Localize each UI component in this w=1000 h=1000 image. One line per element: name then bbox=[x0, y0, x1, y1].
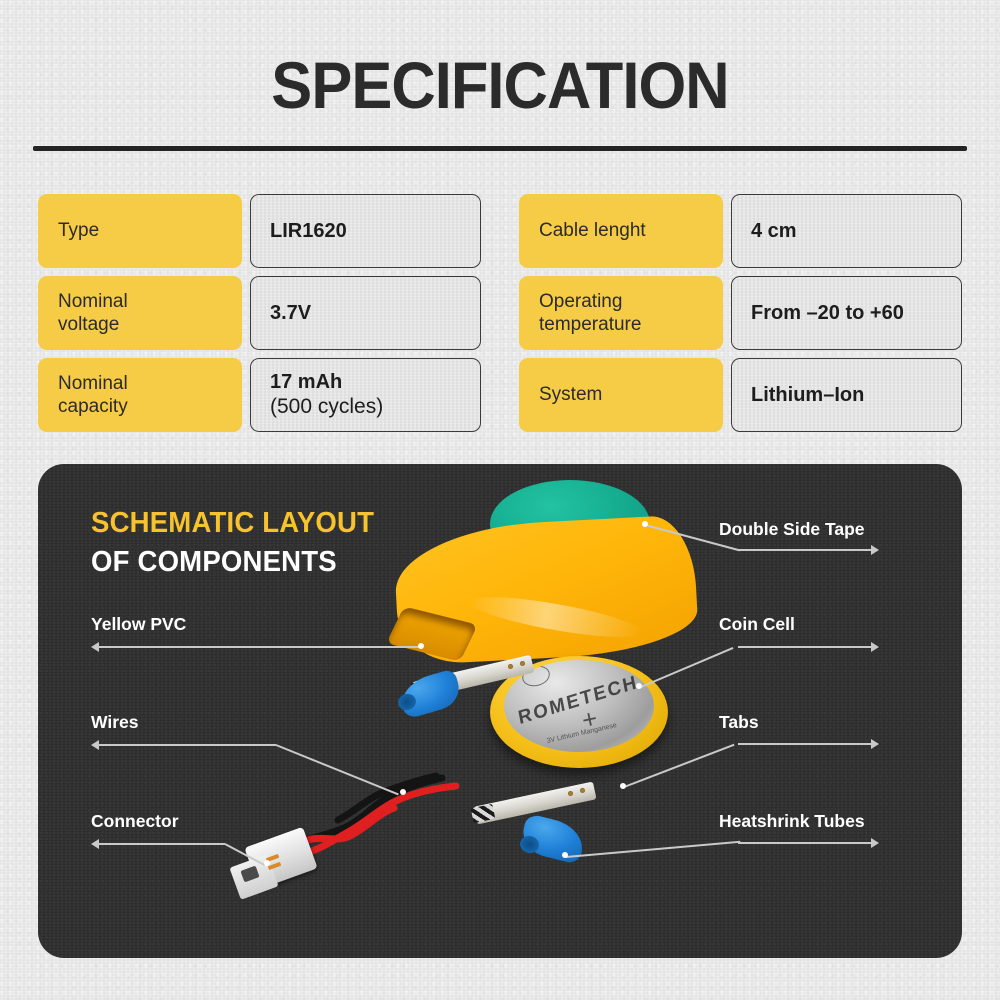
leader-arrow-icon bbox=[91, 642, 99, 652]
schematic-panel: SCHEMATIC LAYOUT OF COMPONENTS ROMETECH … bbox=[38, 464, 962, 958]
leader-endpoint-dot bbox=[620, 783, 626, 789]
spec-row: Nominalcapacity 17 mAh (500 cycles) bbox=[38, 358, 481, 432]
spec-value-text: LIR1620 bbox=[270, 220, 347, 242]
leader-line bbox=[99, 646, 421, 648]
leader-endpoint-dot bbox=[636, 683, 642, 689]
spec-label: Type bbox=[38, 194, 242, 268]
leader-arrow-icon bbox=[871, 545, 879, 555]
spec-label: Operatingtemperature bbox=[519, 276, 723, 350]
spec-table: Type LIR1620 Cable lenght 4 cm Nominalvo… bbox=[38, 194, 962, 432]
callout-label: Coin Cell bbox=[719, 614, 795, 635]
callout-label: Heatshrink Tubes bbox=[719, 811, 865, 832]
leader-endpoint-dot bbox=[264, 860, 270, 866]
spec-label: System bbox=[519, 358, 723, 432]
spec-value: 4 cm bbox=[731, 194, 962, 268]
spec-label: Cable lenght bbox=[519, 194, 723, 268]
callout-label: Wires bbox=[91, 712, 139, 733]
spec-label: Nominalcapacity bbox=[38, 358, 242, 432]
specification-infographic: SPECIFICATION Type LIR1620 Cable lenght … bbox=[0, 0, 1000, 1000]
leader-arrow-icon bbox=[871, 838, 879, 848]
leader-endpoint-dot bbox=[400, 789, 406, 795]
spec-value: 3.7V bbox=[250, 276, 481, 350]
leader-line bbox=[738, 646, 871, 648]
leader-line bbox=[99, 843, 225, 845]
title-divider bbox=[33, 146, 967, 151]
callout-label: Tabs bbox=[719, 712, 759, 733]
leader-line bbox=[738, 743, 871, 745]
spec-value-text: 17 mAh bbox=[270, 371, 342, 393]
leader-endpoint-dot bbox=[642, 521, 648, 527]
spec-row: Cable lenght 4 cm bbox=[519, 194, 962, 268]
spec-value: LIR1620 bbox=[250, 194, 481, 268]
callout-label: Double Side Tape bbox=[719, 519, 865, 540]
schematic-heading-line1: SCHEMATIC LAYOUT bbox=[91, 507, 374, 540]
spec-row: System Lithium–Ion bbox=[519, 358, 962, 432]
spec-label: Nominalvoltage bbox=[38, 276, 242, 350]
spec-row: Operatingtemperature From –20 to +60 bbox=[519, 276, 962, 350]
spec-value-subtext: (500 cycles) bbox=[270, 395, 383, 418]
leader-endpoint-dot bbox=[562, 852, 568, 858]
leader-arrow-icon bbox=[871, 642, 879, 652]
leader-endpoint-dot bbox=[418, 643, 424, 649]
callout-label: Yellow PVC bbox=[91, 614, 186, 635]
leader-line bbox=[99, 744, 276, 746]
schematic-heading: SCHEMATIC LAYOUT OF COMPONENTS bbox=[91, 507, 389, 579]
schematic-heading-line2: OF COMPONENTS bbox=[91, 546, 374, 579]
page-title: SPECIFICATION bbox=[35, 47, 965, 123]
callout-label: Connector bbox=[91, 811, 179, 832]
leader-line bbox=[738, 842, 871, 844]
leader-arrow-icon bbox=[91, 740, 99, 750]
spec-value: From –20 to +60 bbox=[731, 276, 962, 350]
spec-row: Nominalvoltage 3.7V bbox=[38, 276, 481, 350]
spec-value-text: From –20 to +60 bbox=[751, 302, 904, 324]
spec-value: 17 mAh (500 cycles) bbox=[250, 358, 481, 432]
spec-value-text: Lithium–Ion bbox=[751, 384, 864, 406]
spec-value-text: 3.7V bbox=[270, 302, 311, 324]
leader-arrow-icon bbox=[91, 839, 99, 849]
spec-row: Type LIR1620 bbox=[38, 194, 481, 268]
spec-value-text: 4 cm bbox=[751, 220, 797, 242]
leader-line bbox=[738, 549, 871, 551]
spec-value: Lithium–Ion bbox=[731, 358, 962, 432]
leader-arrow-icon bbox=[871, 739, 879, 749]
